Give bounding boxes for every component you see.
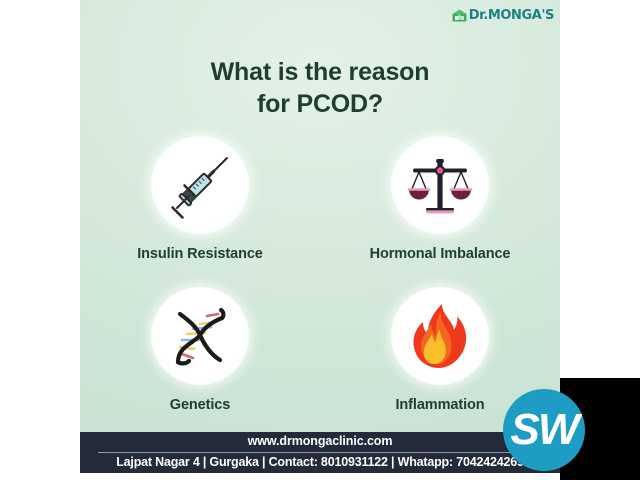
icon-disc	[391, 136, 489, 234]
reasons-grid: Insulin Resistance	[80, 136, 560, 413]
sw-watermark-badge: SW	[503, 389, 585, 471]
reason-card-insulin-resistance: Insulin Resistance	[80, 136, 320, 262]
clinic-building-icon	[452, 9, 467, 23]
reason-label: Insulin Resistance	[137, 246, 263, 262]
icon-disc	[151, 287, 249, 385]
footer-bar: www.drmongaclinic.com Lajpat Nagar 4 | G…	[80, 432, 560, 473]
reason-label: Genetics	[170, 397, 230, 413]
reason-card-genetics: Genetics	[80, 287, 320, 413]
dna-helix-icon	[166, 302, 234, 370]
footer-divider	[98, 452, 542, 453]
reason-label: Hormonal Imbalance	[370, 246, 511, 262]
footer-bottom-strip	[80, 473, 560, 480]
sw-watermark-text: SW	[511, 408, 578, 452]
infographic-poster: Dr.MONGA'S What is the reason for PCOD?	[80, 0, 560, 473]
reason-card-hormonal-imbalance: Hormonal Imbalance	[320, 136, 560, 262]
brand-logo: Dr.MONGA'S	[452, 7, 554, 24]
screenshot-canvas: Dr.MONGA'S What is the reason for PCOD?	[0, 0, 640, 480]
reason-label: Inflammation	[395, 397, 484, 413]
footer-contact-line: Lajpat Nagar 4 | Gurgaka | Contact: 8010…	[80, 455, 560, 469]
footer-website[interactable]: www.drmongaclinic.com	[80, 434, 560, 448]
icon-disc	[391, 287, 489, 385]
brand-name: Dr.MONGA'S	[469, 9, 554, 23]
page-title-line-1: What is the reason	[80, 56, 560, 88]
syringe-icon	[165, 150, 235, 220]
page-title-line-2: for PCOD?	[80, 88, 560, 120]
icon-disc	[151, 136, 249, 234]
balance-scales-icon	[405, 150, 475, 220]
page-title: What is the reason for PCOD?	[80, 56, 560, 120]
flame-icon	[409, 303, 471, 369]
